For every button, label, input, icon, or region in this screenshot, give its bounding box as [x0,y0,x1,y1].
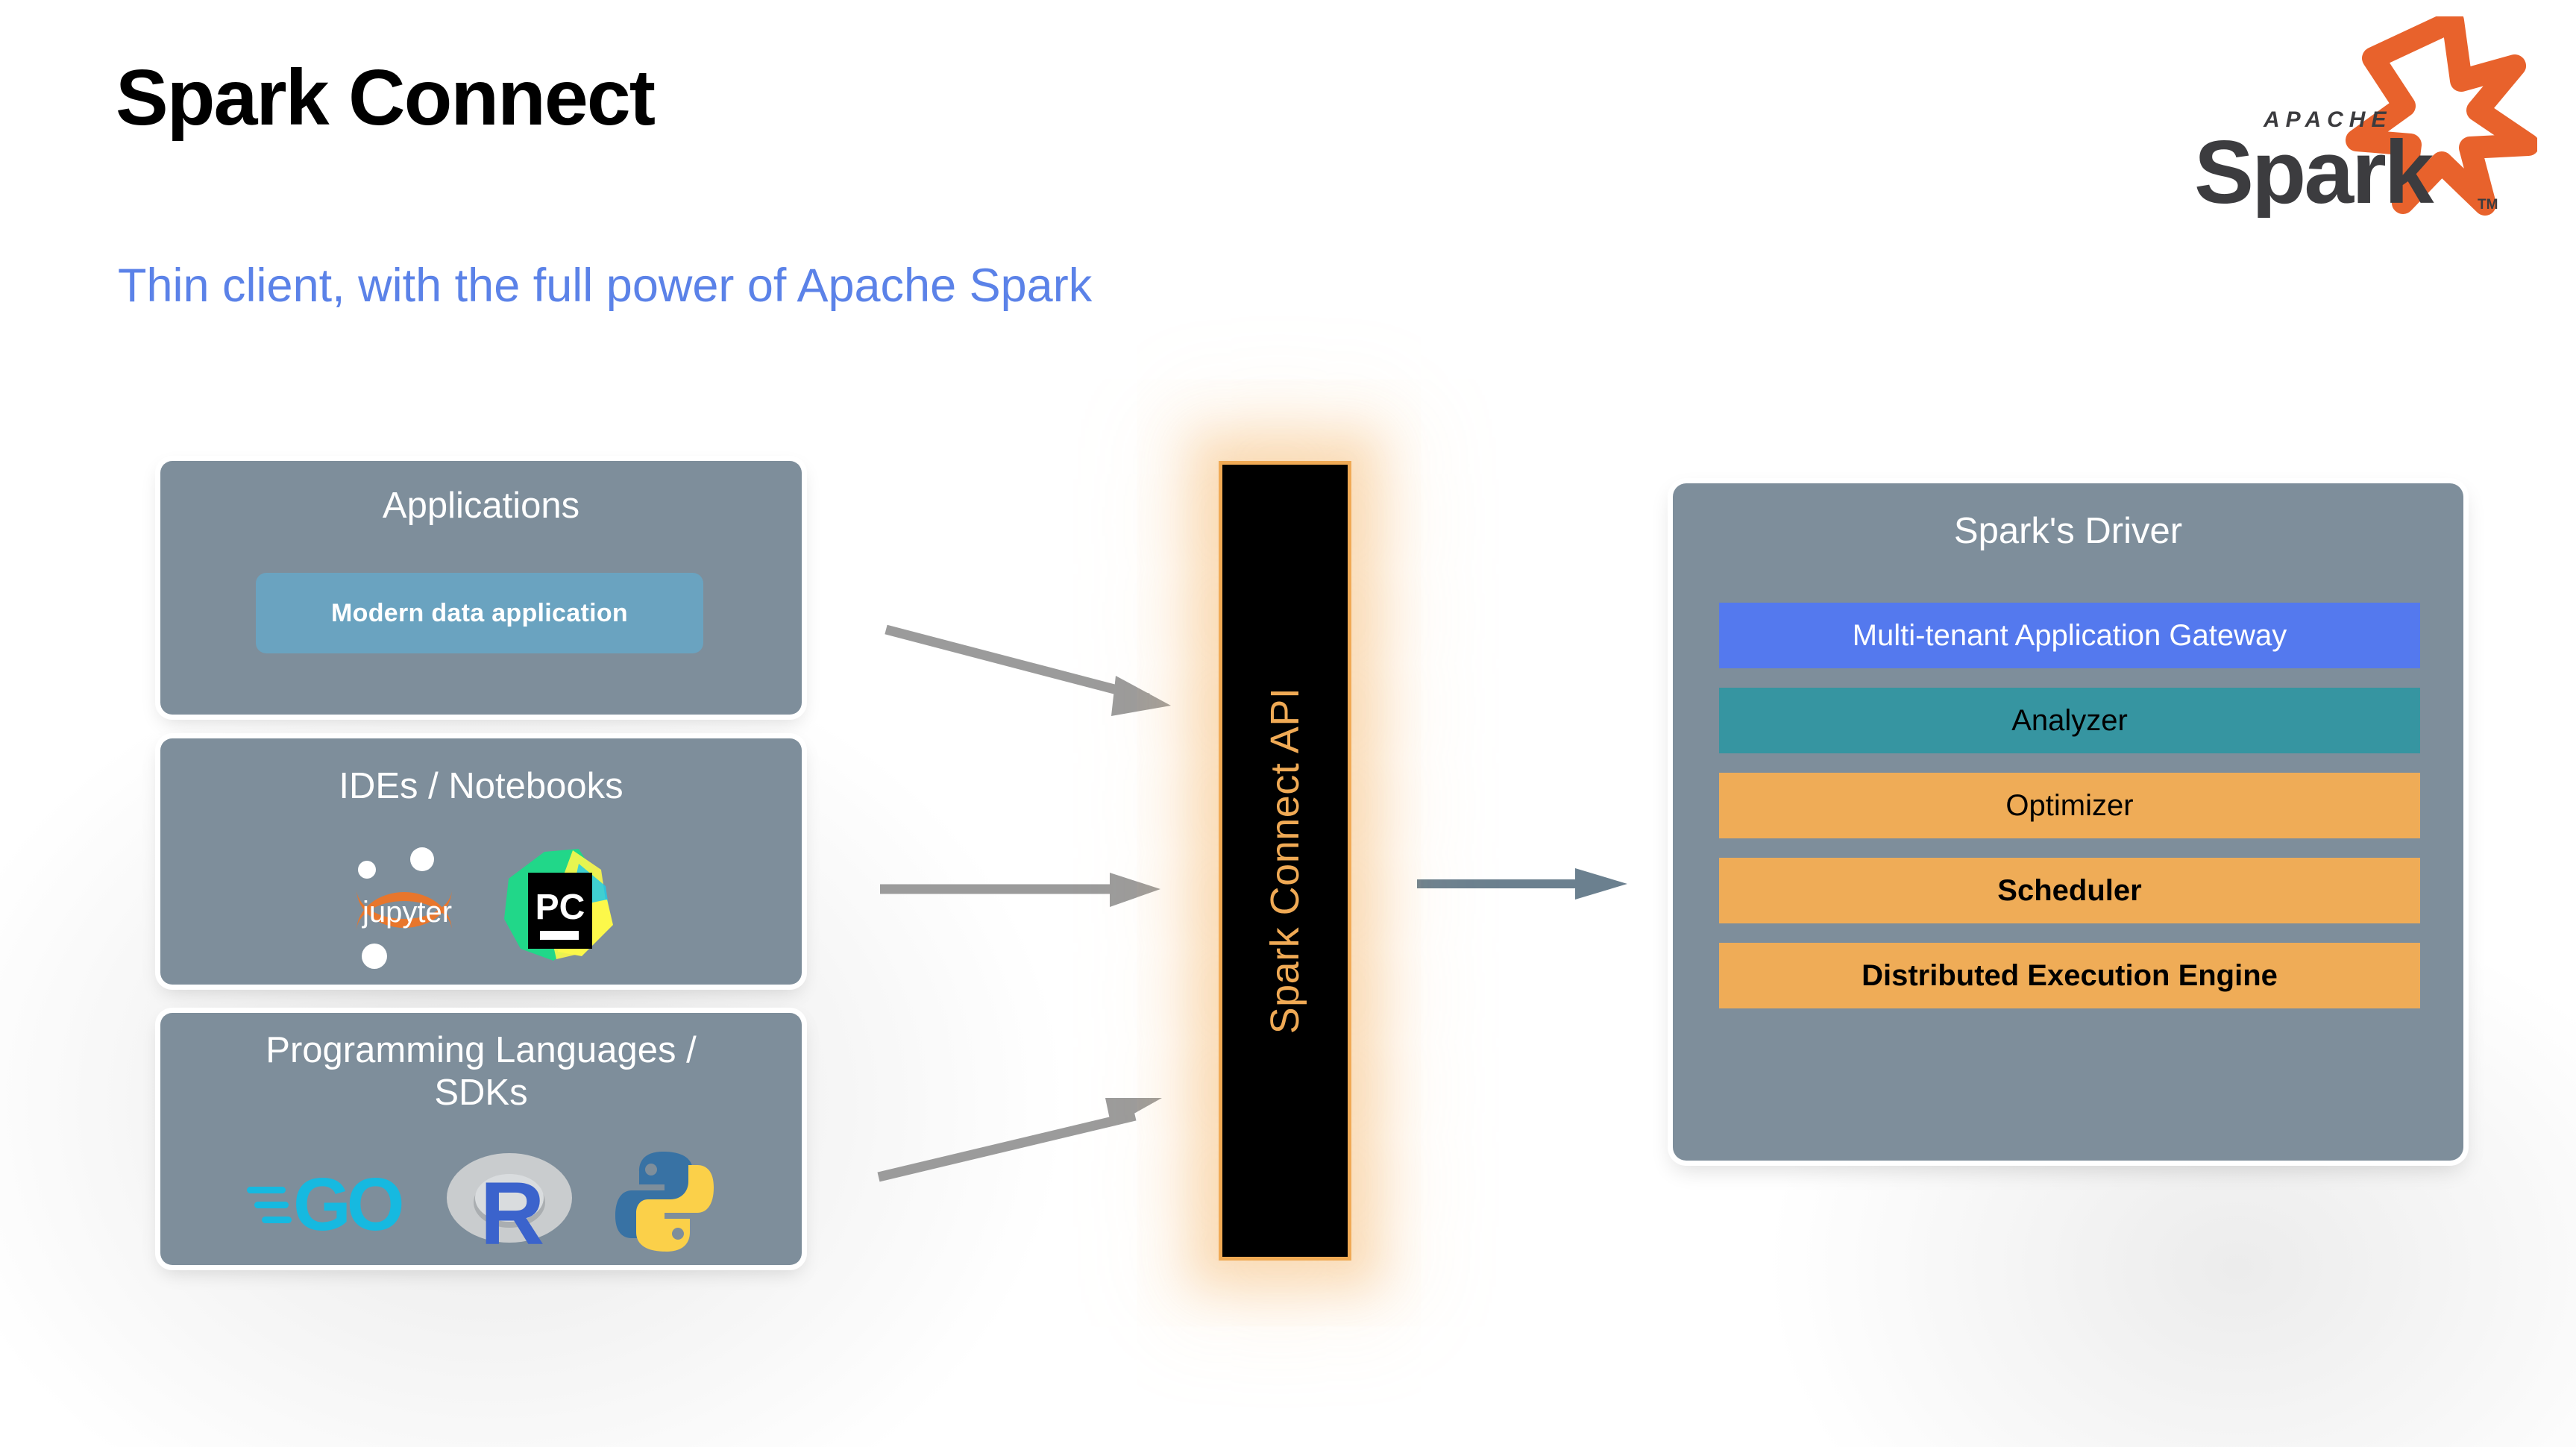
driver-box-label: Scheduler [1997,874,2141,908]
logo-trademark-text: TM [2478,197,2498,213]
arrow-applications-to-api [880,612,1268,716]
modern-data-application-label: Modern data application [331,599,628,628]
pycharm-logo: PC [501,847,618,967]
go-logo: GO [247,1160,405,1243]
modern-data-application-chip[interactable]: Modern data application [256,573,703,653]
logo-wordmark-text: Spark [2194,122,2434,218]
panel-title-applications: Applications [160,485,802,527]
driver-box-analyzer[interactable]: Analyzer [1719,688,2420,753]
arrow-api-to-driver [1417,850,1656,917]
r-logo-text: R [480,1164,545,1258]
jupyter-logo-text: jupyter [362,896,452,929]
spark-connect-api-bar[interactable]: Spark Connect API [1219,461,1351,1261]
driver-box-label: Multi-tenant Application Gateway [1853,619,2287,653]
page-title: Spark Connect [116,58,654,137]
driver-component-stack: Multi-tenant Application Gateway Analyze… [1719,603,2420,1028]
ide-logo-row: jupyter PC [160,843,802,971]
jupyter-logo: jupyter [345,843,470,971]
apache-spark-logo: APACHE Spark TM [2164,16,2537,218]
spark-connect-api-label: Spark Connect API [1262,688,1308,1035]
client-panel-applications[interactable]: Applications Modern data application [160,461,802,715]
spark-driver-panel[interactable]: Spark's Driver Multi-tenant Application … [1673,483,2463,1161]
r-logo: R [444,1146,575,1258]
arrow-languages-to-api [873,1044,1268,1193]
driver-box-label: Optimizer [2005,789,2133,823]
driver-box-optimizer[interactable]: Optimizer [1719,773,2420,838]
client-panel-ides-notebooks[interactable]: IDEs / Notebooks jupyter PC [160,738,802,985]
python-logo [614,1149,715,1255]
pycharm-logo-text: PC [535,888,585,927]
arrow-ides-to-api [880,843,1268,932]
driver-box-distributed-execution-engine[interactable]: Distributed Execution Engine [1719,943,2420,1008]
client-panel-programming-languages[interactable]: Programming Languages / SDKs GO R [160,1013,802,1265]
page-subtitle: Thin client, with the full power of Apac… [118,263,1092,310]
panel-title-programming-languages: Programming Languages / SDKs [160,1029,802,1114]
language-logo-row: GO R [160,1146,802,1258]
panel-title-ides-notebooks: IDEs / Notebooks [160,765,802,808]
driver-box-label: Analyzer [2011,704,2128,738]
driver-box-label: Distributed Execution Engine [1862,959,2278,993]
driver-box-multi-tenant-application-gateway[interactable]: Multi-tenant Application Gateway [1719,603,2420,668]
driver-box-scheduler[interactable]: Scheduler [1719,858,2420,923]
spark-driver-title: Spark's Driver [1673,510,2463,552]
go-logo-text: GO [293,1163,402,1243]
